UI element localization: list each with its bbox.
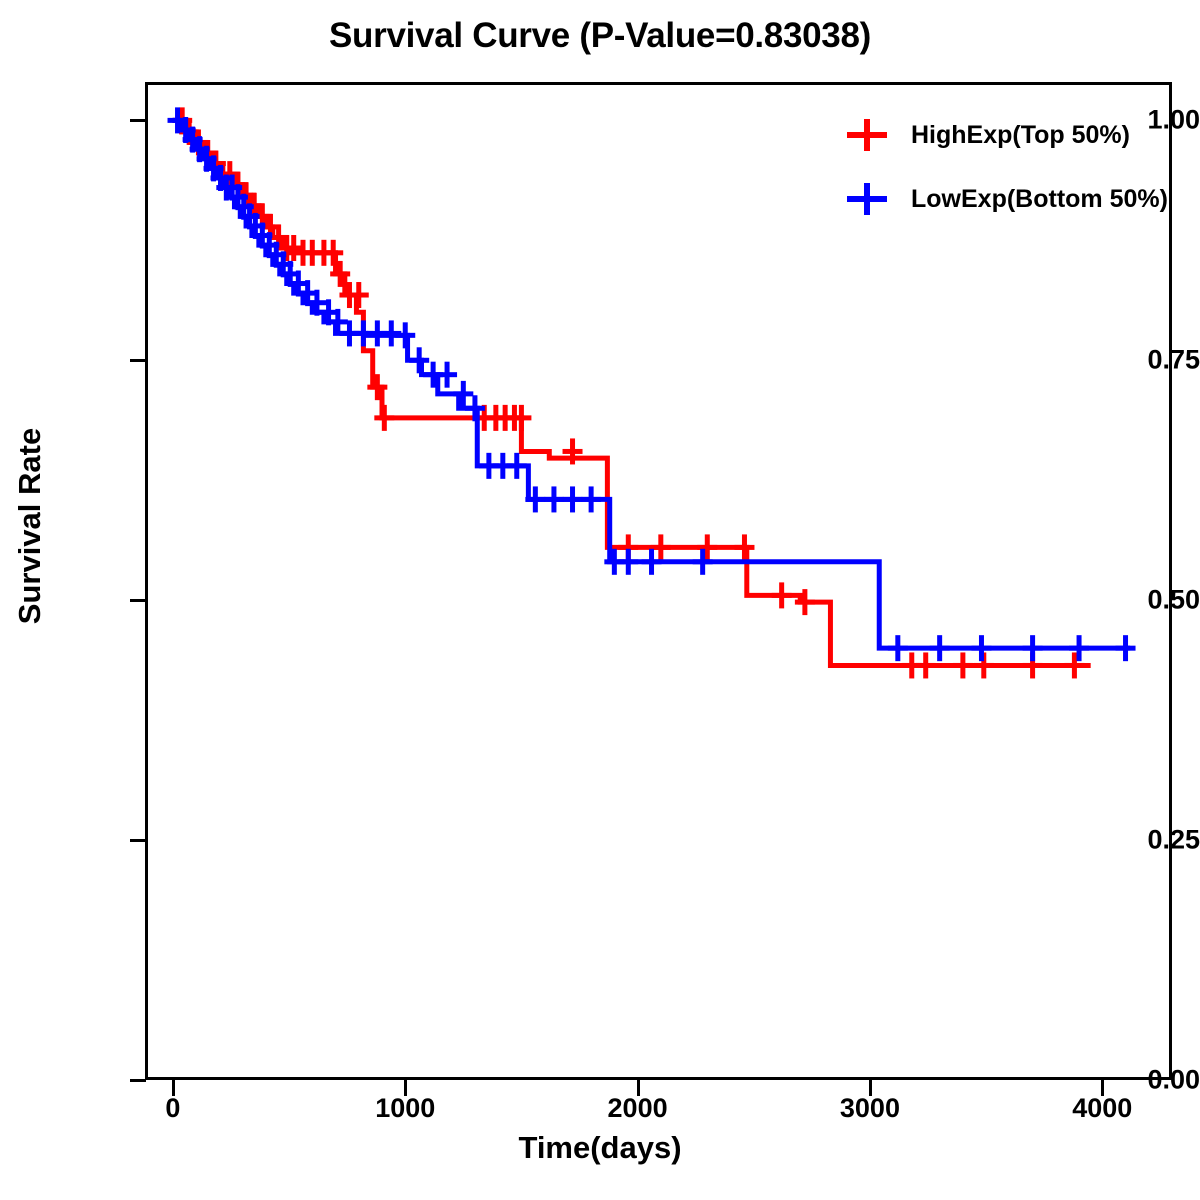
- legend-item-lowexp[interactable]: LowExp(Bottom 50%): [845, 176, 1175, 222]
- censor-tick: [971, 646, 991, 651]
- legend-item-highexp[interactable]: HighExp(Top 50%): [845, 112, 1175, 158]
- censor-tick: [349, 293, 369, 298]
- censor-tick: [409, 358, 429, 363]
- y-tick-mark: [130, 599, 146, 602]
- y-tick-label: 0.00: [1100, 1065, 1200, 1096]
- survival-curve-figure: Survival Curve (P-Value=0.83038) 0.000.2…: [0, 0, 1200, 1200]
- censor-tick: [953, 663, 973, 668]
- x-tick-mark: [404, 1080, 407, 1096]
- y-tick-mark: [130, 119, 146, 122]
- censor-tick: [581, 497, 601, 502]
- censor-tick: [618, 559, 638, 564]
- legend: HighExp(Top 50%) LowExp(Bottom 50%): [845, 112, 1175, 240]
- x-tick-mark: [637, 1080, 640, 1096]
- legend-label-lowexp: LowExp(Bottom 50%): [911, 185, 1168, 214]
- plus-marker-icon: [845, 118, 889, 152]
- y-tick-label: 0.25: [1100, 825, 1200, 856]
- censor-tick: [563, 449, 583, 454]
- censor-tick: [974, 663, 994, 668]
- censor-tick: [511, 415, 531, 420]
- censor-tick: [437, 372, 457, 377]
- x-tick-mark: [1101, 1080, 1104, 1096]
- censor-tick: [563, 497, 583, 502]
- y-tick-label: 0.50: [1100, 585, 1200, 616]
- y-tick-mark: [130, 359, 146, 362]
- censor-tick: [916, 663, 936, 668]
- censor-tick: [1069, 646, 1089, 651]
- y-tick-mark: [130, 839, 146, 842]
- censor-tick: [1064, 663, 1084, 668]
- censor-tick: [323, 250, 343, 255]
- censor-tick: [642, 559, 662, 564]
- x-tick-label: 2000: [558, 1093, 718, 1124]
- x-tick-label: 3000: [790, 1093, 950, 1124]
- censor-tick: [795, 600, 815, 605]
- x-tick-label: 0: [93, 1093, 253, 1124]
- x-tick-label: 1000: [325, 1093, 485, 1124]
- x-axis-label: Time(days): [0, 1130, 1200, 1166]
- censor-tick: [453, 391, 473, 396]
- censor-tick: [328, 319, 348, 324]
- censor-tick: [374, 415, 394, 420]
- censor-tick: [307, 300, 327, 305]
- y-axis-label: Survival Rate: [12, 376, 48, 676]
- censor-tick: [330, 271, 350, 276]
- censor-tick: [734, 545, 754, 550]
- censor-tick: [1023, 646, 1043, 651]
- x-tick-label: 4000: [1022, 1093, 1182, 1124]
- y-tick-mark: [130, 1079, 146, 1082]
- chart-title: Survival Curve (P-Value=0.83038): [0, 16, 1200, 56]
- censor-tick: [1116, 646, 1136, 651]
- x-tick-mark: [172, 1080, 175, 1096]
- censor-tick: [772, 593, 792, 598]
- x-tick-mark: [869, 1080, 872, 1096]
- censor-tick: [507, 463, 527, 468]
- legend-label-highexp: HighExp(Top 50%): [911, 121, 1130, 150]
- censor-tick: [930, 646, 950, 651]
- censor-tick: [367, 385, 387, 390]
- plus-marker-icon: [845, 182, 889, 216]
- censor-tick: [693, 559, 713, 564]
- censor-tick: [465, 406, 485, 411]
- censor-tick: [544, 497, 564, 502]
- censor-tick: [525, 497, 545, 502]
- censor-tick: [395, 333, 415, 338]
- censor-tick: [888, 646, 908, 651]
- censor-tick: [1023, 663, 1043, 668]
- y-tick-label: 0.75: [1100, 345, 1200, 376]
